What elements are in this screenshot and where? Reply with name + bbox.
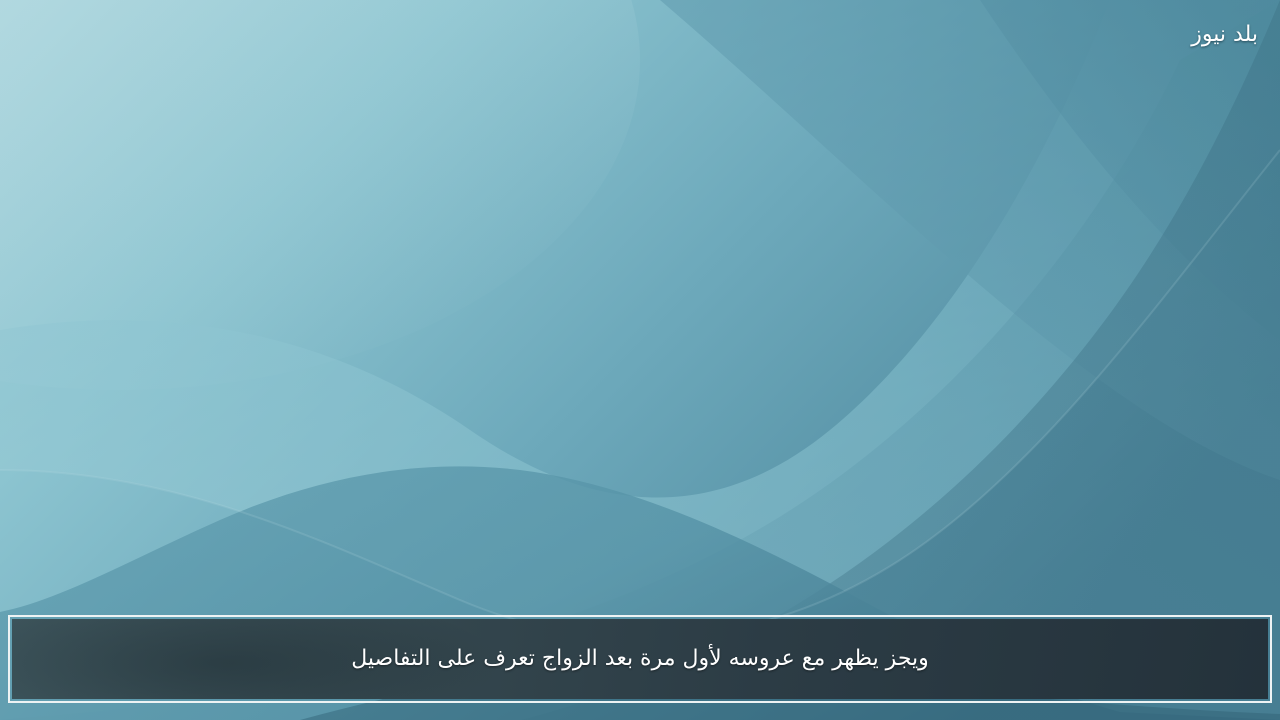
video-frame: بلد نيوز ويجز يظهر مع عروسه لأول مرة بعد… <box>0 0 1280 720</box>
caption-headline: ويجز يظهر مع عروسه لأول مرة بعد الزواج ت… <box>335 643 945 675</box>
background-artwork <box>0 0 1280 720</box>
caption-bar-inner: ويجز يظهر مع عروسه لأول مرة بعد الزواج ت… <box>12 619 1268 699</box>
caption-bar: ويجز يظهر مع عروسه لأول مرة بعد الزواج ت… <box>8 615 1272 703</box>
channel-watermark: بلد نيوز <box>1191 20 1258 50</box>
